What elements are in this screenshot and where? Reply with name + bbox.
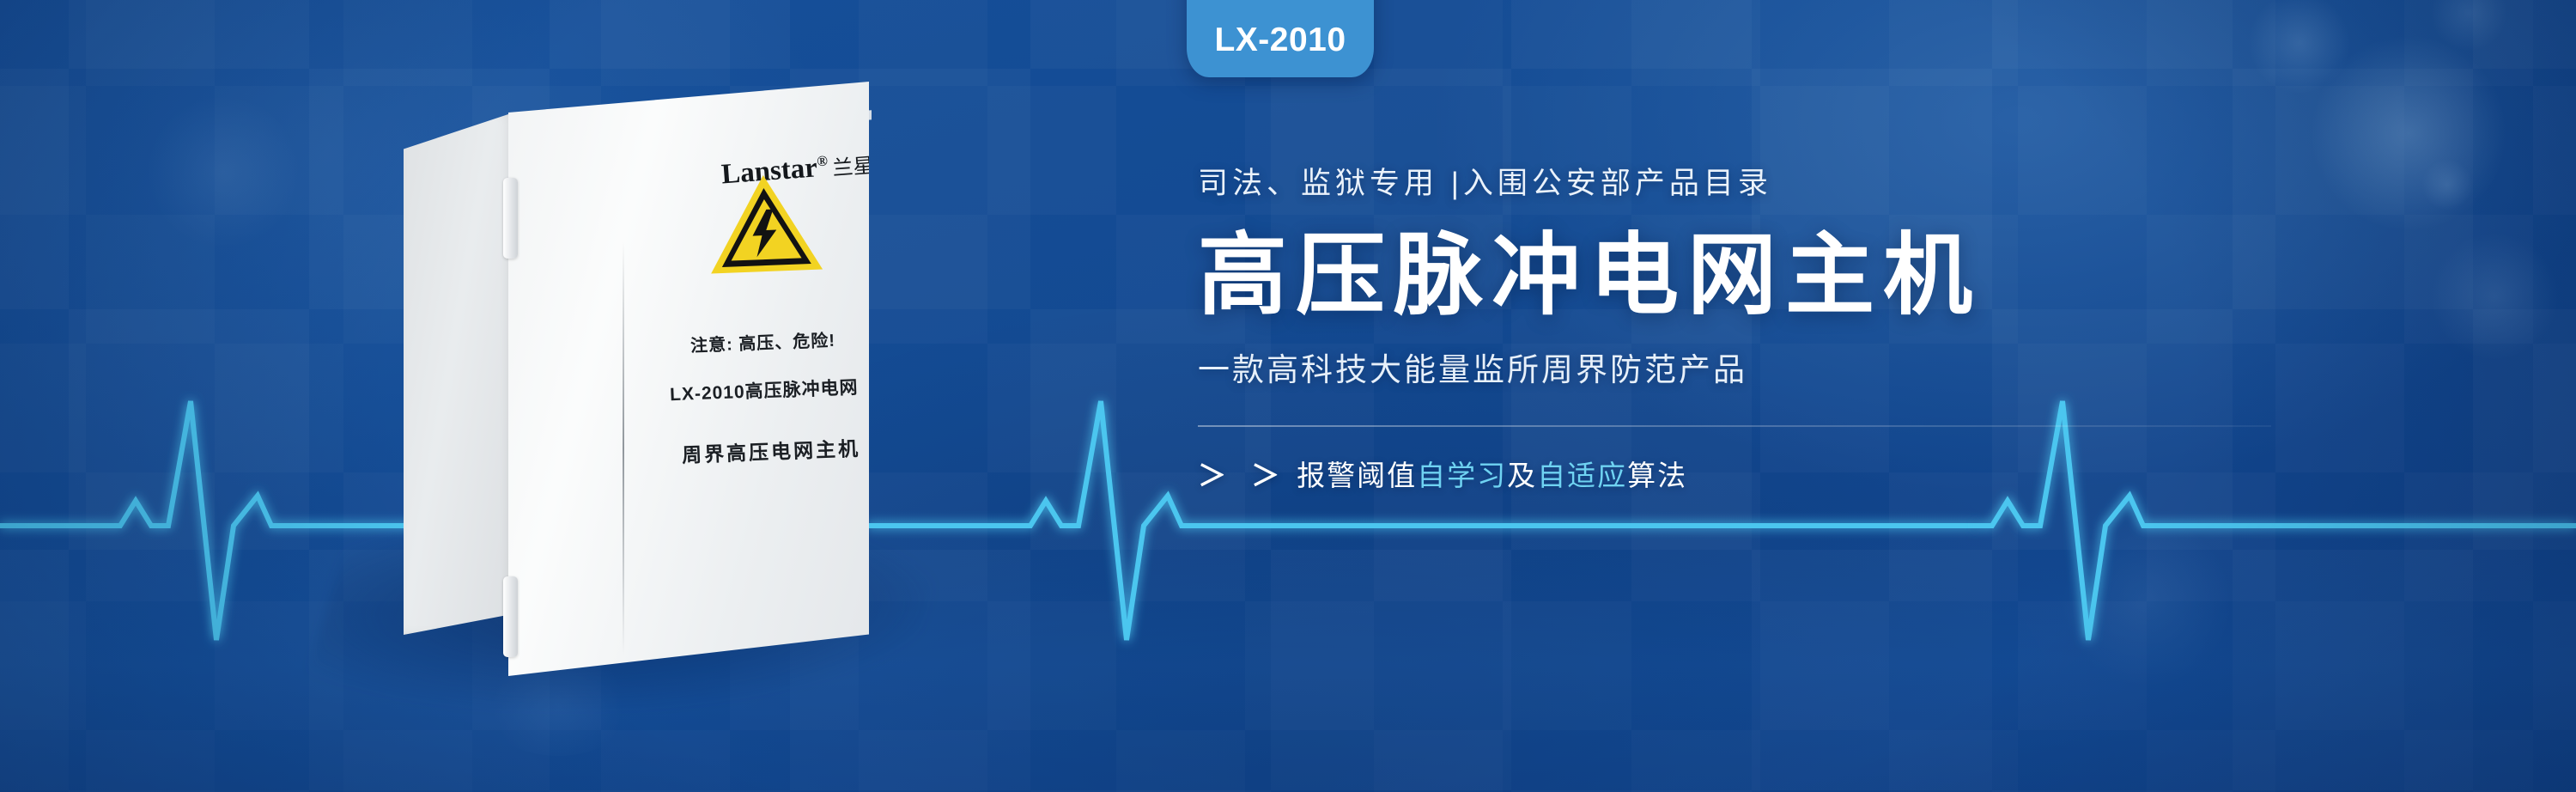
feature-bullet: ＞ ＞报警阈值自学习及自适应算法 bbox=[1198, 461, 2537, 490]
registered-trademark-icon: ® bbox=[817, 152, 829, 169]
indicator-lamp-bottom bbox=[927, 329, 953, 355]
product-hero-banner: Lanstar®兰星 注意: 高压、危险! LX-2010高压脉冲电网 周界高压… bbox=[0, 0, 2576, 792]
tagline-text: 一款高科技大能量监所周界防范产品 bbox=[1198, 354, 2537, 386]
cabinet-hinge-bottom bbox=[503, 576, 518, 657]
feature-text-part1: 报警阈值 bbox=[1297, 460, 1417, 491]
product-label-line-3: 周界高压电网主机 bbox=[681, 432, 860, 468]
headline-title: 高压脉冲电网主机 bbox=[1198, 229, 2537, 323]
eyebrow-text: 司法、监狱专用 |入围公安部产品目录 bbox=[1198, 168, 2537, 198]
warning-label-line-1: 注意: 高压、危险! bbox=[690, 326, 836, 356]
door-seam bbox=[623, 241, 624, 655]
model-label-line-2: LX-2010高压脉冲电网 bbox=[670, 374, 860, 406]
cabinet-side-face bbox=[404, 113, 513, 635]
product-image-high-voltage-controller: Lanstar®兰星 注意: 高压、危险! LX-2010高压脉冲电网 周界高压… bbox=[404, 82, 953, 717]
model-number-label: LX-2010 bbox=[1214, 23, 1346, 57]
feature-text-part3: 算法 bbox=[1627, 460, 1687, 491]
cabinet-front-door: Lanstar®兰星 注意: 高压、危险! LX-2010高压脉冲电网 周界高压… bbox=[508, 82, 869, 676]
feature-highlight-1: 自学习 bbox=[1417, 460, 1507, 491]
high-voltage-warning-icon bbox=[704, 169, 827, 278]
indicator-lamp-top bbox=[927, 147, 953, 173]
feature-text-part2: 及 bbox=[1507, 460, 1537, 491]
brand-chinese-text: 兰星 bbox=[832, 155, 875, 180]
model-number-badge: LX-2010 bbox=[1187, 0, 1374, 77]
chevron-right-icon: ＞ ＞ bbox=[1198, 460, 1288, 491]
divider-rule bbox=[1198, 425, 2271, 427]
feature-highlight-2: 自适应 bbox=[1537, 460, 1627, 491]
banner-copy-block: 司法、监狱专用 |入围公安部产品目录 高压脉冲电网主机 一款高科技大能量监所周界… bbox=[1198, 168, 2537, 490]
cabinet-hinge-top bbox=[503, 178, 518, 259]
